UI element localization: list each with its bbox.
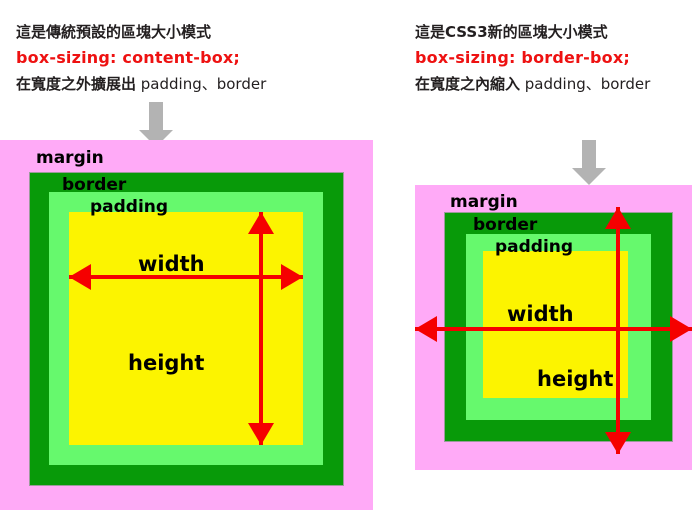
arrow-tip-up: [248, 212, 274, 234]
right-caption-line-3-rest: padding、border: [520, 75, 650, 93]
border-box-diagram: margin border padding width height: [415, 185, 692, 470]
left-caption-line-3: 在寬度之外擴展出 padding、border: [16, 71, 266, 97]
right-caption-block: 這是CSS3新的區塊大小模式 box-sizing: border-box; 在…: [415, 19, 650, 97]
content-box-diagram: margin border padding width height: [0, 140, 373, 510]
height-arrow: [248, 212, 274, 445]
arrow-tip-left: [69, 264, 91, 290]
arrow-tip-right: [670, 316, 692, 342]
padding-label: padding: [90, 198, 168, 216]
right-caption-line-1: 這是CSS3新的區塊大小模式: [415, 19, 650, 45]
margin-label: margin: [36, 149, 104, 167]
left-caption-line-3-bold: 在寬度之外擴展出: [16, 75, 136, 93]
left-caption-line-1: 這是傳統預設的區塊大小模式: [16, 19, 266, 45]
arrow-bar: [415, 327, 692, 331]
arrow-tip-up: [605, 207, 631, 229]
arrow-head: [572, 168, 606, 185]
height-label: height: [128, 352, 204, 374]
margin-label: margin: [450, 193, 518, 211]
right-caption-code: box-sizing: border-box;: [415, 45, 650, 71]
padding-label: padding: [495, 238, 573, 256]
border-label: border: [62, 176, 126, 194]
height-label: height: [537, 368, 613, 390]
arrow-tip-down: [605, 432, 631, 454]
arrow-bar: [616, 207, 620, 454]
border-label: border: [473, 216, 537, 234]
arrow-tip-right: [281, 264, 303, 290]
left-caption-line-3-rest: padding、border: [136, 75, 266, 93]
arrow-down-icon-right: [572, 140, 606, 185]
right-caption-line-3-bold: 在寬度之內縮入: [415, 75, 520, 93]
height-arrow: [605, 207, 631, 454]
width-label: width: [507, 303, 574, 325]
arrow-bar: [259, 212, 263, 445]
left-caption-code: box-sizing: content-box;: [16, 45, 266, 71]
arrow-tip-down: [248, 423, 274, 445]
width-label: width: [138, 253, 205, 275]
arrow-shaft: [149, 102, 163, 130]
left-caption-block: 這是傳統預設的區塊大小模式 box-sizing: content-box; 在…: [16, 19, 266, 97]
right-caption-line-3: 在寬度之內縮入 padding、border: [415, 71, 650, 97]
arrow-tip-left: [415, 316, 437, 342]
arrow-shaft: [582, 140, 596, 168]
